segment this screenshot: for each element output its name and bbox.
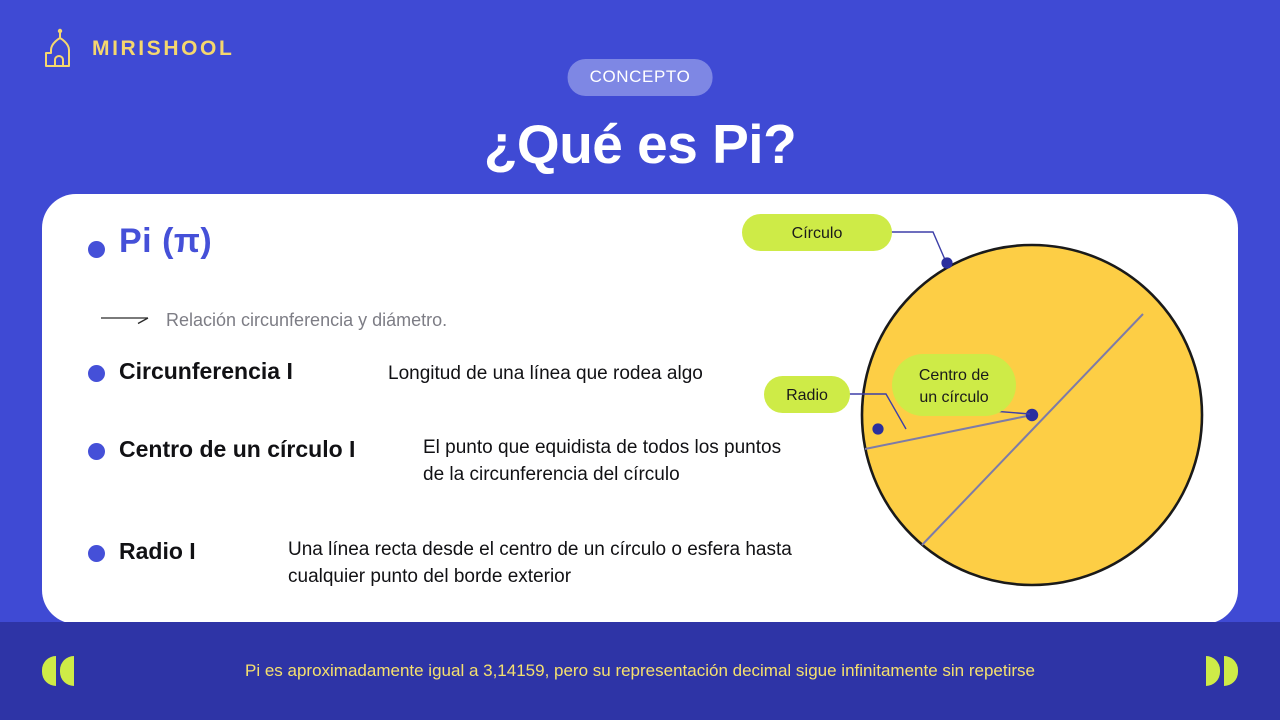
- label-radio-text: Radio: [786, 387, 828, 404]
- label-pill-radio: Radio: [764, 376, 850, 413]
- point-radius: [872, 423, 883, 434]
- point-center: [1026, 409, 1038, 421]
- label-circulo-text: Círculo: [792, 225, 843, 242]
- bullet-dot: [88, 241, 105, 258]
- label-pill-circulo: Círculo: [742, 214, 892, 251]
- circle-diagram: Círculo Radio Centro de un círculo: [728, 194, 1238, 624]
- pi-subtitle-row: Relación circunferencia y diámetro.: [100, 310, 447, 331]
- label-pill-centro: Centro de un círculo: [892, 354, 1016, 416]
- pi-subtitle: Relación circunferencia y diámetro.: [166, 310, 447, 331]
- page-title: ¿Qué es Pi?: [0, 112, 1280, 176]
- label-centro-line1: Centro de: [919, 367, 989, 384]
- category-badge: CONCEPTO: [568, 59, 713, 96]
- definition-list: Pi (π) Relación circunferencia y diámetr…: [88, 222, 808, 280]
- point-circumference: [941, 257, 952, 268]
- brand-name: MIRISHOOL: [92, 37, 234, 61]
- connector-circulo: [891, 232, 946, 262]
- mosque-dome-icon: [40, 28, 80, 70]
- pi-title: Pi (π): [119, 222, 212, 261]
- content-card: Pi (π) Relación circunferencia y diámetr…: [42, 194, 1238, 624]
- bullet-dot: [88, 545, 105, 562]
- term-label: Centro de un círculo I: [119, 436, 355, 463]
- bullet-dot: [88, 365, 105, 382]
- next-half-2: [1224, 656, 1238, 686]
- next-double-chevron-icon[interactable]: [1206, 656, 1238, 686]
- label-centro-line2: un círculo: [919, 389, 988, 406]
- next-half-1: [1206, 656, 1220, 686]
- brand-logo[interactable]: MIRISHOOL: [40, 28, 234, 70]
- bullet-dot: [88, 443, 105, 460]
- footer-bar: Pi es aproximadamente igual a 3,14159, p…: [0, 622, 1280, 720]
- slide-root: MIRISHOOL CONCEPTO ¿Qué es Pi? Pi (π) Re…: [0, 0, 1280, 720]
- term-label: Circunferencia I: [119, 358, 293, 385]
- list-item-pi: Pi (π): [88, 222, 808, 280]
- footer-note: Pi es aproximadamente igual a 3,14159, p…: [0, 661, 1280, 681]
- term-label: Radio I: [119, 538, 196, 565]
- arrow-right-icon: [100, 311, 152, 330]
